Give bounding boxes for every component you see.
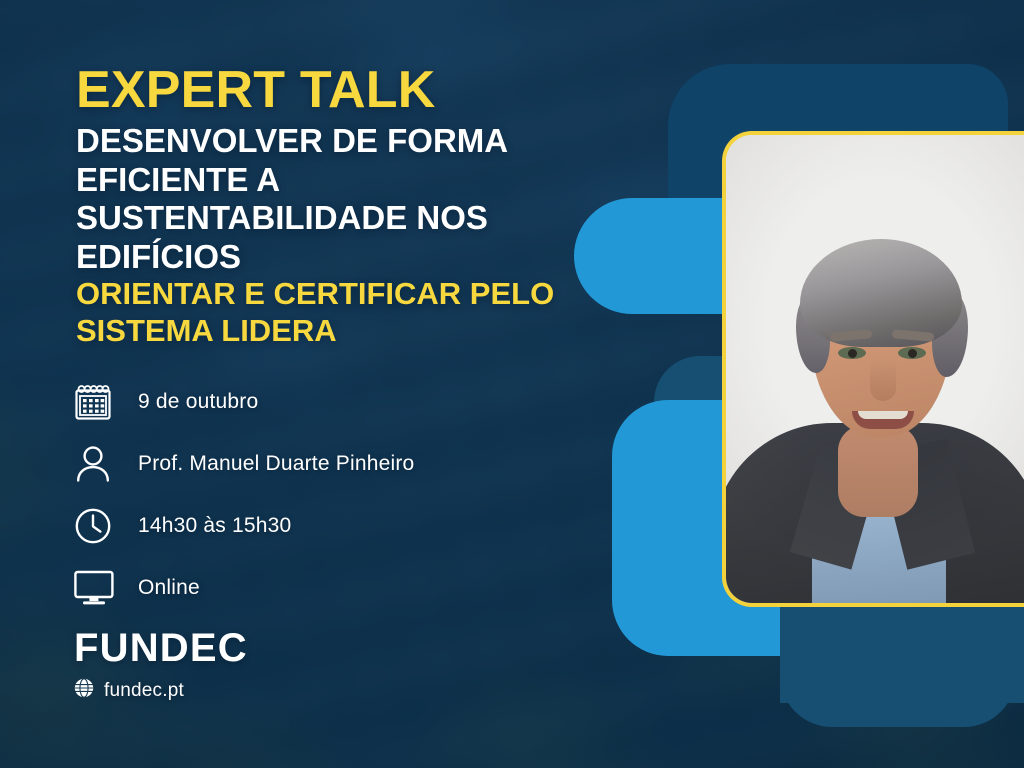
event-detail-date: 9 de outubro [74, 374, 574, 430]
event-poster: EXPERT TALK DESENVOLVER DE FORMA EFICIEN… [0, 0, 1024, 768]
event-speaker-label: Prof. Manuel Duarte Pinheiro [138, 452, 414, 476]
event-format-label: Online [138, 576, 200, 600]
event-time-label: 14h30 às 15h30 [138, 514, 291, 538]
fundec-logo-wordmark: FUNDEC [74, 628, 248, 668]
globe-icon [74, 678, 94, 703]
website-row[interactable]: fundec.pt [74, 678, 248, 703]
event-details-list: 9 de outubro Prof. Manuel Duarte Pinheir… [74, 374, 574, 622]
clock-icon [74, 507, 120, 545]
calendar-icon [74, 383, 120, 421]
event-detail-speaker: Prof. Manuel Duarte Pinheiro [74, 436, 574, 492]
decor-shape-navy-bottom [780, 607, 1016, 727]
poster-text-column: EXPERT TALK DESENVOLVER DE FORMA EFICIEN… [76, 0, 636, 350]
person-icon [74, 445, 120, 483]
poster-headline: DESENVOLVER DE FORMA EFICIENTE A SUSTENT… [76, 122, 576, 276]
speaker-photo-card [722, 131, 1024, 607]
poster-kicker: EXPERT TALK [76, 0, 636, 116]
event-detail-format: Online [74, 560, 574, 616]
portrait-shading [726, 135, 1024, 603]
monitor-icon [74, 570, 120, 606]
footer-branding: FUNDEC fundec.pt [74, 628, 248, 703]
website-label: fundec.pt [104, 680, 184, 702]
poster-subheadline: ORIENTAR E CERTIFICAR PELO SISTEMA LIDER… [76, 276, 576, 349]
event-detail-time: 14h30 às 15h30 [74, 498, 574, 554]
event-date-label: 9 de outubro [138, 390, 258, 414]
speaker-portrait-image [726, 135, 1024, 603]
